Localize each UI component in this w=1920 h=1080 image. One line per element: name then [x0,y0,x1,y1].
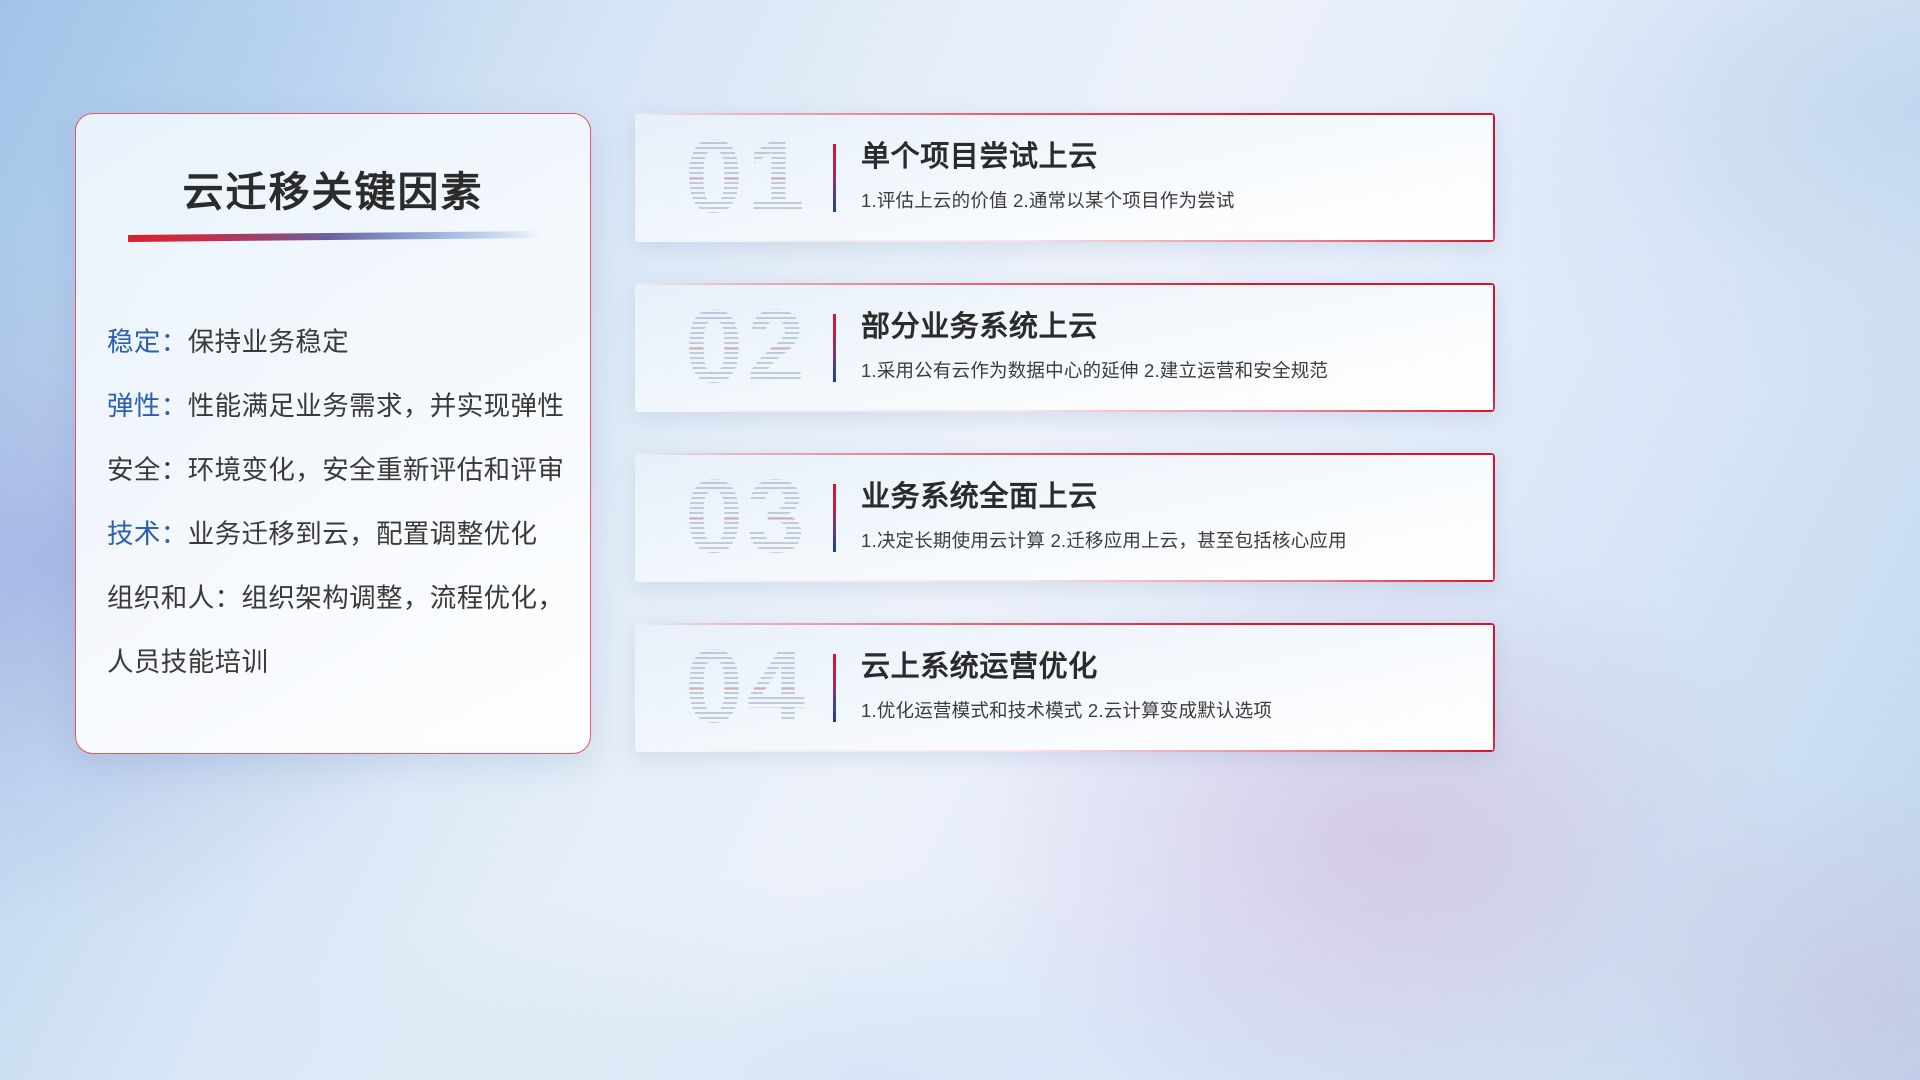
title-underline-gradient [128,231,540,242]
card-accent-bar [833,144,836,212]
card-bottom-border [635,750,1495,752]
card-accent-bar [833,484,836,552]
list-item-value: 环境变化，安全重新评估和评审 [188,455,565,485]
card-right-border [1493,113,1495,242]
key-factors-panel: 云迁移关键因素 稳定：保持业务稳定 弹性：性能满足业务需求，并实现弹性 安全：环… [75,113,591,754]
card-body: 云上系统运营优化 1.优化运营模式和技术模式 2.云计算变成默认选项 [861,647,1467,724]
card-right-border [1493,453,1495,582]
list-item-label: 弹性： [107,391,188,421]
card-body: 业务系统全面上云 1.决定长期使用云计算 2.迁移应用上云，甚至包括核心应用 [861,477,1467,554]
card-description: 1.优化运营模式和技术模式 2.云计算变成默认选项 [861,698,1467,724]
card-top-border [635,113,1495,115]
stage-number-accent: 01 [657,122,837,234]
list-item-value: 组织架构调整，流程优化， [242,583,565,613]
list-item-label: 安全： [107,455,188,485]
stage-number-accent: 04 [657,632,837,744]
card-title: 单个项目尝试上云 [861,137,1467,177]
stage-card-02[interactable]: 02 02 部分业务系统上云 1.采用公有云作为数据中心的延伸 2.建立运营和安… [635,283,1495,412]
card-bottom-border [635,580,1495,582]
card-top-border [635,623,1495,625]
card-title: 部分业务系统上云 [861,307,1467,347]
stage-card-04[interactable]: 04 04 云上系统运营优化 1.优化运营模式和技术模式 2.云计算变成默认选项 [635,623,1495,752]
card-body: 单个项目尝试上云 1.评估上云的价值 2.通常以某个项目作为尝试 [861,137,1467,214]
list-item: 人员技能培训 [107,630,572,694]
list-item-label: 技术： [107,519,188,549]
card-description: 1.决定长期使用云计算 2.迁移应用上云，甚至包括核心应用 [861,528,1467,554]
list-item-label: 组织和人： [107,583,242,613]
card-right-border [1493,623,1495,752]
list-item: 稳定：保持业务稳定 [107,310,572,374]
list-item-value: 业务迁移到云，配置调整优化 [188,519,538,549]
stage-card-03[interactable]: 03 03 业务系统全面上云 1.决定长期使用云计算 2.迁移应用上云，甚至包括… [635,453,1495,582]
list-item-value: 性能满足业务需求，并实现弹性 [188,391,565,421]
card-title: 业务系统全面上云 [861,477,1467,517]
list-item: 安全：环境变化，安全重新评估和评审 [107,438,572,502]
card-right-border [1493,283,1495,412]
key-factors-list: 稳定：保持业务稳定 弹性：性能满足业务需求，并实现弹性 安全：环境变化，安全重新… [107,310,572,694]
card-bottom-border [635,410,1495,412]
card-title: 云上系统运营优化 [861,647,1467,687]
card-top-border [635,453,1495,455]
stage-number-accent: 02 [657,292,837,404]
list-item-label: 稳定： [107,327,188,357]
list-item: 组织和人：组织架构调整，流程优化， [107,566,572,630]
stage-card-01[interactable]: 01 01 单个项目尝试上云 1.评估上云的价值 2.通常以某个项目作为尝试 [635,113,1495,242]
card-bottom-border [635,240,1495,242]
card-description: 1.评估上云的价值 2.通常以某个项目作为尝试 [861,188,1467,214]
card-accent-bar [833,654,836,722]
list-item: 弹性：性能满足业务需求，并实现弹性 [107,374,572,438]
list-item: 技术：业务迁移到云，配置调整优化 [107,502,572,566]
card-body: 部分业务系统上云 1.采用公有云作为数据中心的延伸 2.建立运营和安全规范 [861,307,1467,384]
stage-number-accent: 03 [657,462,837,574]
page-title: 云迁移关键因素 [76,158,590,218]
list-item-value: 人员技能培训 [107,647,268,677]
list-item-value: 保持业务稳定 [188,327,349,357]
card-description: 1.采用公有云作为数据中心的延伸 2.建立运营和安全规范 [861,358,1467,384]
stage-card-list: 01 01 单个项目尝试上云 1.评估上云的价值 2.通常以某个项目作为尝试 0… [635,113,1495,793]
card-top-border [635,283,1495,285]
card-accent-bar [833,314,836,382]
